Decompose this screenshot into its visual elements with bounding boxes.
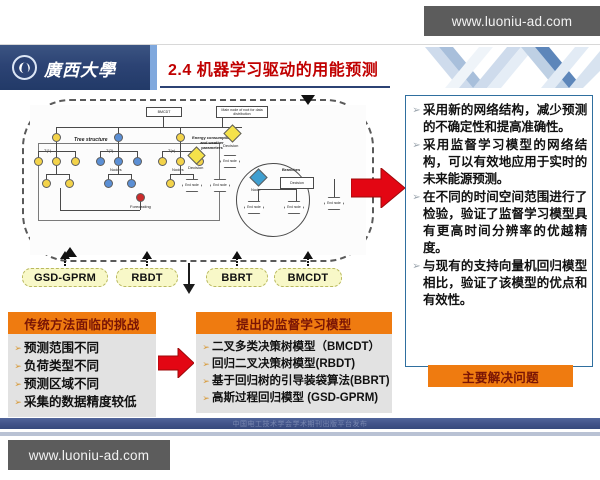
diagram-main-node: Main node of root for data distribution [216,106,268,118]
diagram-pointer-down-icon [301,95,315,105]
bullet-arrow-icon: ➢ [410,137,423,154]
diagram-edge [118,142,119,151]
diagram-node [158,157,167,166]
red-arrow-challenges-to-models-icon [158,348,194,378]
challenges-title: 传统方法面临的挑战 [8,312,156,334]
diagram-bus [100,151,138,152]
models-card: 提出的监督学习模型 ➢ 二叉多类决策树模型（BMCDT） ➢ 回归二叉决策树模型… [196,312,392,413]
diagram-node [176,157,185,166]
conclusions-panel: ➢ 采用新的网络结构，减少预测的不确定性和提高准确性。 ➢ 采用监督学习模型的网… [405,95,593,367]
chevron-pattern-icon [425,45,600,90]
diagram-branches-label: Branches [282,167,300,172]
bullet-arrow-icon: ➢ [12,361,24,372]
diagram-nodes-label: Nodes [172,167,184,172]
slide: 廣西大學 2.4 机器学习驱动的用能预测 [0,0,600,480]
bullet-arrow-icon: ➢ [410,258,423,275]
models-item-text: 高斯过程回归模型 (GSD-GPRM) [212,390,388,407]
diagram-bus [46,174,70,175]
diagram-end-node: End node [220,155,240,168]
diagram-node [71,157,80,166]
watermark-bottom: www.luoniu-ad.com [8,440,170,470]
diagram-decision-label: Decision [223,143,238,148]
diagram-node [127,179,136,188]
challenges-item: ➢ 预测范围不同 [12,339,152,357]
university-name: 廣西大學 [44,56,116,81]
diagram-node [133,157,142,166]
bullet-arrow-icon: ➢ [12,379,24,390]
conclusion-item: ➢ 采用新的网络结构，减少预测的不确定性和提高准确性。 [410,102,587,136]
diagram-edge [258,189,259,201]
diagram-tree-structure-label: Tree structure [74,137,108,143]
header-accent-stripe [150,45,157,90]
diagram-decision-label: Decision [188,165,203,170]
chip-arrow-up-icon [303,251,313,259]
challenges-item-text: 预测区域不同 [24,375,152,393]
diagram-bus [60,210,140,211]
diagram-node [34,157,43,166]
diagram-node [52,133,61,142]
conclusion-text: 在不同的时间空间范围进行了检验，验证了监督学习模型具有更高时间分辨率的优越精度。 [423,189,587,257]
models-item: ➢ 高斯过程回归模型 (GSD-GPRM) [200,390,388,407]
challenges-item: ➢ 负荷类型不同 [12,357,152,375]
model-chip-bbrt[interactable]: BBRT [206,268,268,287]
diagram-figure: BMCDT Main node of root for data distrib… [30,105,366,255]
diagram-edge [56,142,57,151]
challenges-item-text: 负荷类型不同 [24,357,152,375]
diagram-node [42,179,51,188]
challenges-card: 传统方法面临的挑战 ➢ 预测范围不同 ➢ 负荷类型不同 ➢ 预测区域不同 ➢ 采… [8,312,156,417]
diagram-end-node: End node [324,197,344,210]
diagram-bus [38,151,76,152]
diagram-node [96,157,105,166]
challenges-body: ➢ 预测范围不同 ➢ 负荷类型不同 ➢ 预测区域不同 ➢ 采集的数据精度较低 [8,334,156,417]
diagram-edge [163,117,164,127]
bullet-arrow-icon: ➢ [12,343,24,354]
models-item-text: 回归二叉决策树模型(RBDT) [212,356,388,373]
bullet-arrow-icon: ➢ [200,393,212,404]
red-arrow-to-conclusions-icon [351,168,405,208]
chip-connector [146,258,148,266]
diagram-node [65,179,74,188]
diagram-node [114,133,123,142]
bullet-arrow-icon: ➢ [410,102,423,119]
diagram-decision-box: Decision [280,177,314,189]
diagram-edge [56,166,57,174]
conclusion-text: 采用新的网络结构，减少预测的不确定性和提高准确性。 [423,102,587,136]
diagram-node [176,133,185,142]
bullet-arrow-icon: ➢ [410,189,423,206]
models-item: ➢ 二叉多类决策树模型（BMCDT） [200,339,388,356]
diagram-edge [118,166,119,174]
diagram-edge [296,189,297,201]
conclusion-item: ➢ 采用监督学习模型的网络结构，可以有效地应用于实时的未来能源预测。 [410,137,587,188]
chip-connector [64,258,66,266]
conclusion-item: ➢ 在不同的时间空间范围进行了检验，验证了监督学习模型具有更高时间分辨率的优越精… [410,189,587,257]
models-title: 提出的监督学习模型 [196,312,392,334]
diagram-edge [334,179,335,197]
chip-connector [307,258,309,266]
diagram-forecast-node [136,193,145,202]
model-chip-rbdt[interactable]: RBDT [116,268,178,287]
bullet-arrow-icon: ➢ [200,359,212,370]
models-item: ➢ 回归二叉决策树模型(RBDT) [200,356,388,373]
header-chevron-decoration [425,45,600,90]
diagram-node [114,157,123,166]
model-chip-gsd-gprm[interactable]: GSD-GPRM [22,268,108,287]
title-underline [160,86,390,88]
challenges-item-text: 采集的数据精度较低 [24,393,152,411]
diagram-bus [170,174,194,175]
chip-arrow-up-icon [232,251,242,259]
models-item-text: 基于回归树的引导装袋算法(BBRT) [212,373,390,390]
diagram-node [166,179,175,188]
university-seal-icon [12,55,37,80]
diagram-node [52,157,61,166]
conclusion-text: 采用监督学习模型的网络结构，可以有效地应用于实时的未来能源预测。 [423,137,587,188]
chip-arrow-up-icon [60,251,70,259]
models-item: ➢ 基于回归树的引导装袋算法(BBRT) [200,373,388,390]
diagram-edge [222,118,223,127]
page-title: 2.4 机器学习驱动的用能预测 [168,56,378,80]
chip-connector [236,258,238,266]
chip-arrow-up-icon [142,251,152,259]
models-body: ➢ 二叉多类决策树模型（BMCDT） ➢ 回归二叉决策树模型(RBDT) ➢ 基… [196,334,392,413]
conclusion-item: ➢ 与现有的支持向量机回归模型相比，验证了该模型的优点和有效性。 [410,258,587,309]
challenges-item: ➢ 预测区域不同 [12,375,152,393]
diagram-edge [60,188,61,210]
challenges-item: ➢ 采集的数据精度较低 [12,393,152,411]
bullet-arrow-icon: ➢ [12,397,24,408]
footer-text: 中国电工技术学会学术期刊出版平台发布 [0,418,600,429]
diagram-edge [180,142,181,151]
diagram-root-node: BMCDT [146,107,182,117]
conclusion-text: 与现有的支持向量机回归模型相比，验证了该模型的优点和有效性。 [423,258,587,309]
diagram-nodes-label: Nodes [110,167,122,172]
bullet-arrow-icon: ➢ [200,342,212,353]
diagram-zoom-circle [236,163,310,237]
flow-arrow-down-icon [183,284,195,294]
main-problem-badge: 主要解决问题 [428,365,573,387]
diagram-forecasting-label: Forecasting [130,204,151,209]
slide-header: 廣西大學 2.4 机器学习驱动的用能预测 [0,45,600,90]
diagram-node [104,179,113,188]
bullet-arrow-icon: ➢ [200,376,212,387]
diagram-bus [108,174,132,175]
diagram-edge [180,166,181,174]
challenges-item-text: 预测范围不同 [24,339,152,357]
model-chip-bmcdt[interactable]: BMCDT [274,268,342,287]
diagram-bus [258,189,296,190]
watermark-top: www.luoniu-ad.com [424,6,600,36]
footer-bar-secondary [0,432,600,436]
models-item-text: 二叉多类决策树模型（BMCDT） [212,339,388,356]
